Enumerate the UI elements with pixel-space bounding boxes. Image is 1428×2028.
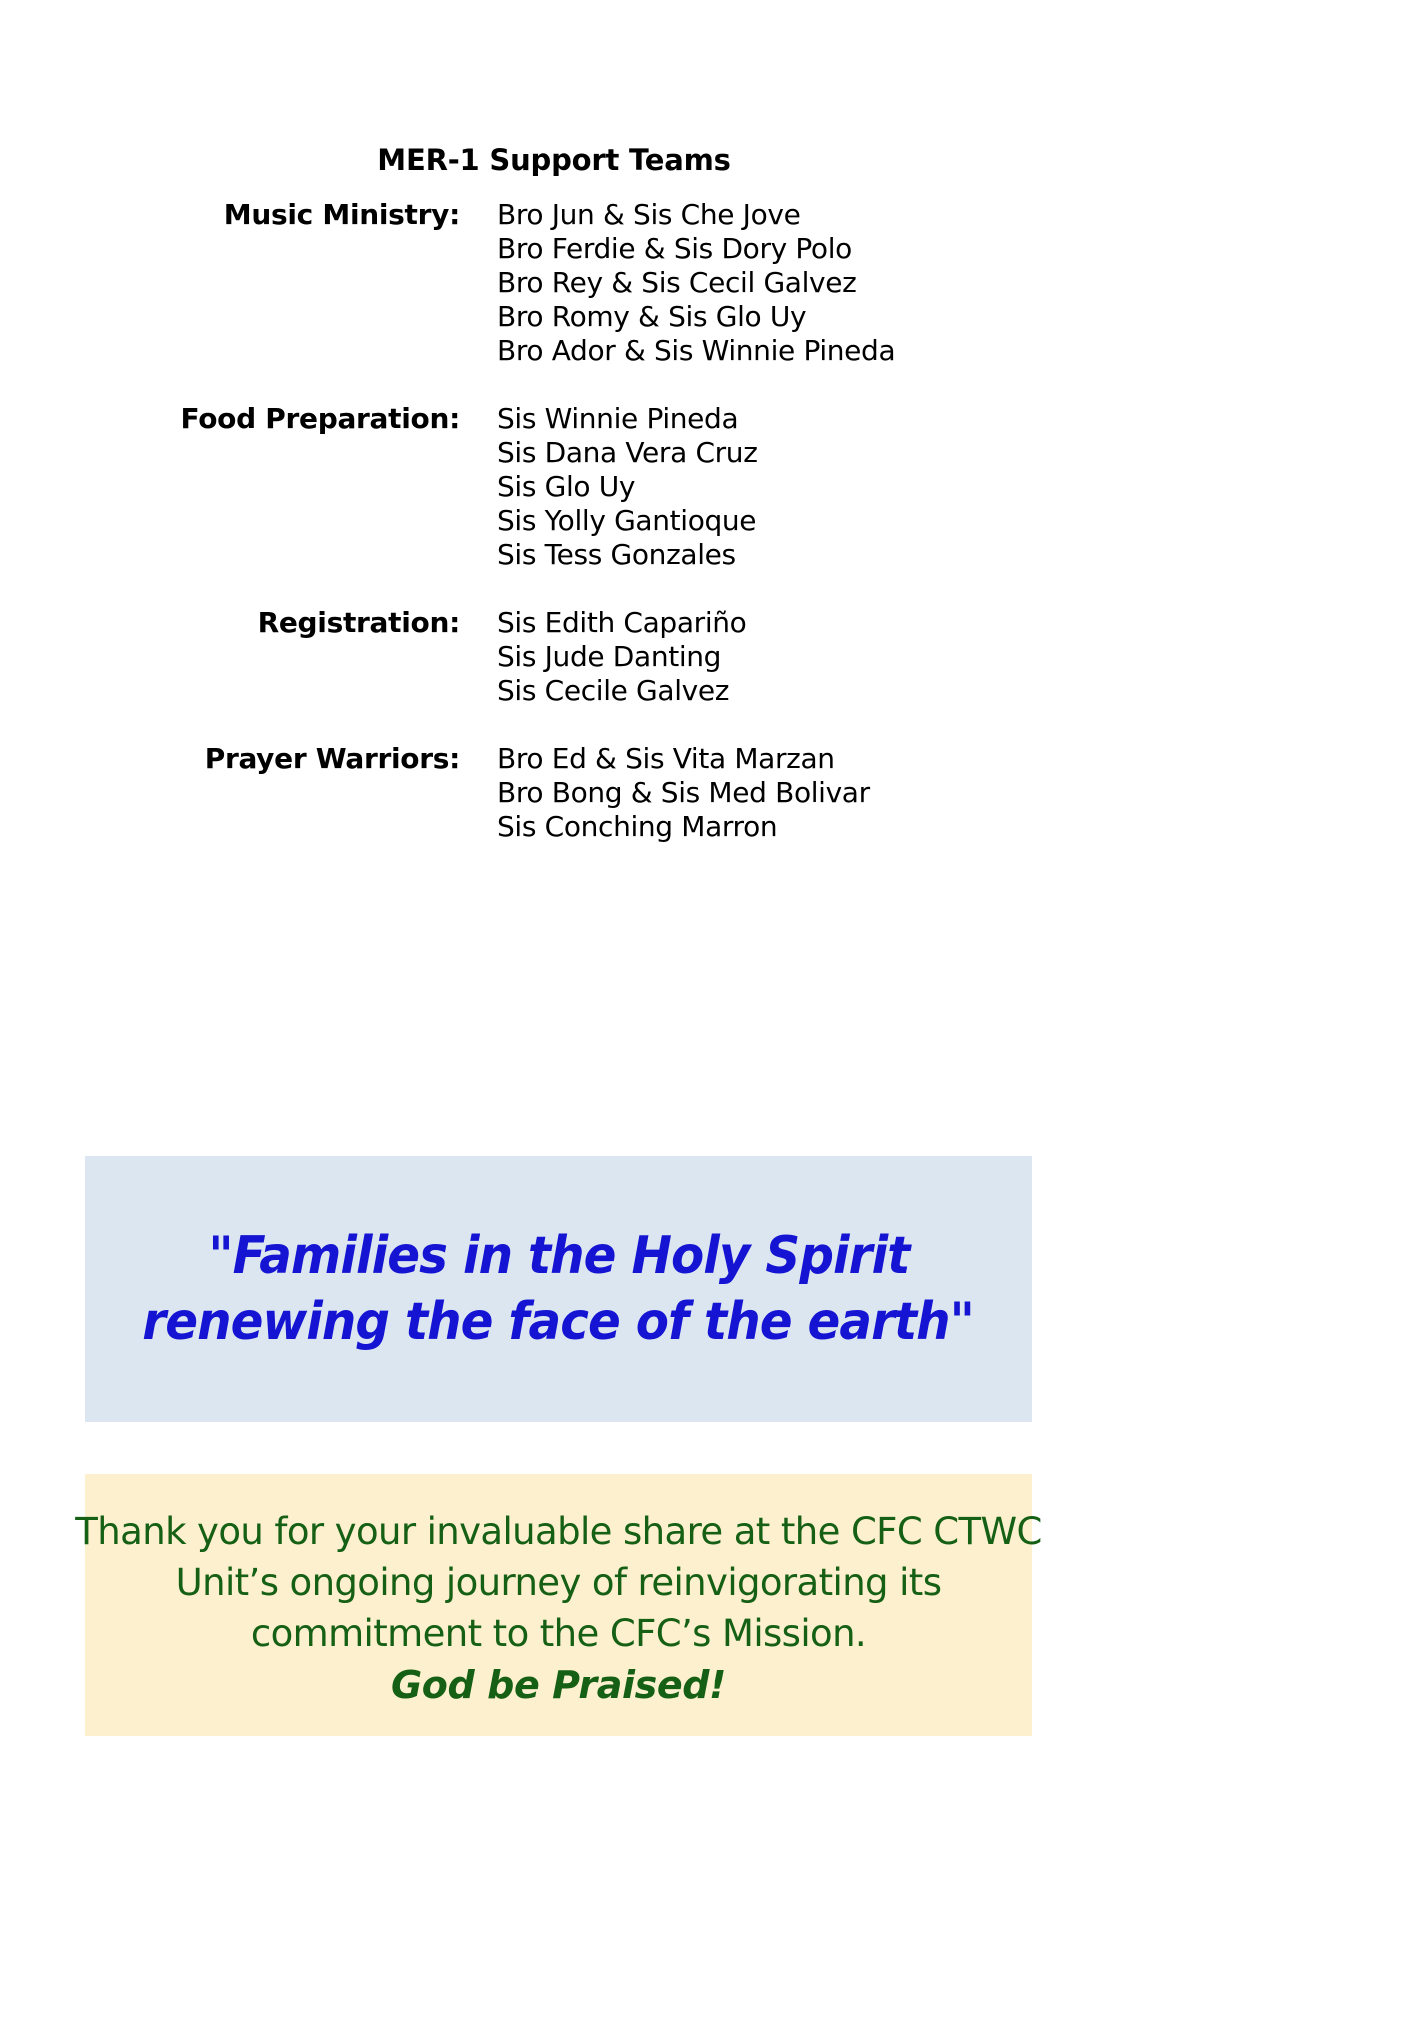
team-section-food-preparation: Food Preparation: Sis Winnie Pineda Sis … xyxy=(0,402,1108,572)
team-members-prayer-warriors: Bro Ed & Sis Vita Marzan Bro Bong & Sis … xyxy=(497,742,1108,844)
list-item: Bro Ferdie & Sis Dory Polo xyxy=(497,232,1108,266)
team-section-prayer-warriors: Prayer Warriors: Bro Ed & Sis Vita Marza… xyxy=(0,742,1108,844)
team-members-registration: Sis Edith Capariño Sis Jude Danting Sis … xyxy=(497,606,1108,708)
thanks-banner: Thank you for your invaluable share at t… xyxy=(85,1474,1032,1736)
team-section-registration: Registration: Sis Edith Capariño Sis Jud… xyxy=(0,606,1108,708)
list-item: Sis Cecile Galvez xyxy=(497,674,1108,708)
team-label-prayer-warriors: Prayer Warriors: xyxy=(0,742,460,776)
team-label-registration: Registration: xyxy=(0,606,460,640)
list-item: Sis Jude Danting xyxy=(497,640,1108,674)
list-item: Bro Jun & Sis Che Jove xyxy=(497,198,1108,232)
thanks-line-1: Thank you for your invaluable share at t… xyxy=(75,1506,1041,1557)
team-members-music-ministry: Bro Jun & Sis Che Jove Bro Ferdie & Sis … xyxy=(497,198,1108,368)
page-title: MER-1 Support Teams xyxy=(0,143,1108,177)
quote-line-1: "Families in the Holy Spirit xyxy=(208,1223,909,1289)
team-members-food-preparation: Sis Winnie Pineda Sis Dana Vera Cruz Sis… xyxy=(497,402,1108,572)
list-item: Sis Winnie Pineda xyxy=(497,402,1108,436)
quote-line-2: renewing the face of the earth" xyxy=(143,1289,975,1355)
quote-banner: "Families in the Holy Spirit renewing th… xyxy=(85,1156,1032,1422)
list-item: Bro Rey & Sis Cecil Galvez xyxy=(497,266,1108,300)
thanks-line-3: commitment to the CFC’s Mission. xyxy=(251,1608,866,1659)
list-item: Bro Romy & Sis Glo Uy xyxy=(497,300,1108,334)
list-item: Sis Dana Vera Cruz xyxy=(497,436,1108,470)
document-page: MER-1 Support Teams Music Ministry: Bro … xyxy=(0,0,1428,2028)
team-section-music-ministry: Music Ministry: Bro Jun & Sis Che Jove B… xyxy=(0,198,1108,368)
thanks-line-2: Unit’s ongoing journey of reinvigorating… xyxy=(176,1557,942,1608)
support-teams-list: Music Ministry: Bro Jun & Sis Che Jove B… xyxy=(0,198,1108,844)
team-label-food-preparation: Food Preparation: xyxy=(0,402,460,436)
list-item: Sis Glo Uy xyxy=(497,470,1108,504)
list-item: Sis Conching Marron xyxy=(497,810,1108,844)
list-item: Bro Ador & Sis Winnie Pineda xyxy=(497,334,1108,368)
list-item: Bro Bong & Sis Med Bolivar xyxy=(497,776,1108,810)
list-item: Sis Yolly Gantioque xyxy=(497,504,1108,538)
list-item: Sis Tess Gonzales xyxy=(497,538,1108,572)
list-item: Bro Ed & Sis Vita Marzan xyxy=(497,742,1108,776)
team-label-music-ministry: Music Ministry: xyxy=(0,198,460,232)
list-item: Sis Edith Capariño xyxy=(497,606,1108,640)
thanks-praise-line: God be Praised! xyxy=(391,1659,726,1711)
